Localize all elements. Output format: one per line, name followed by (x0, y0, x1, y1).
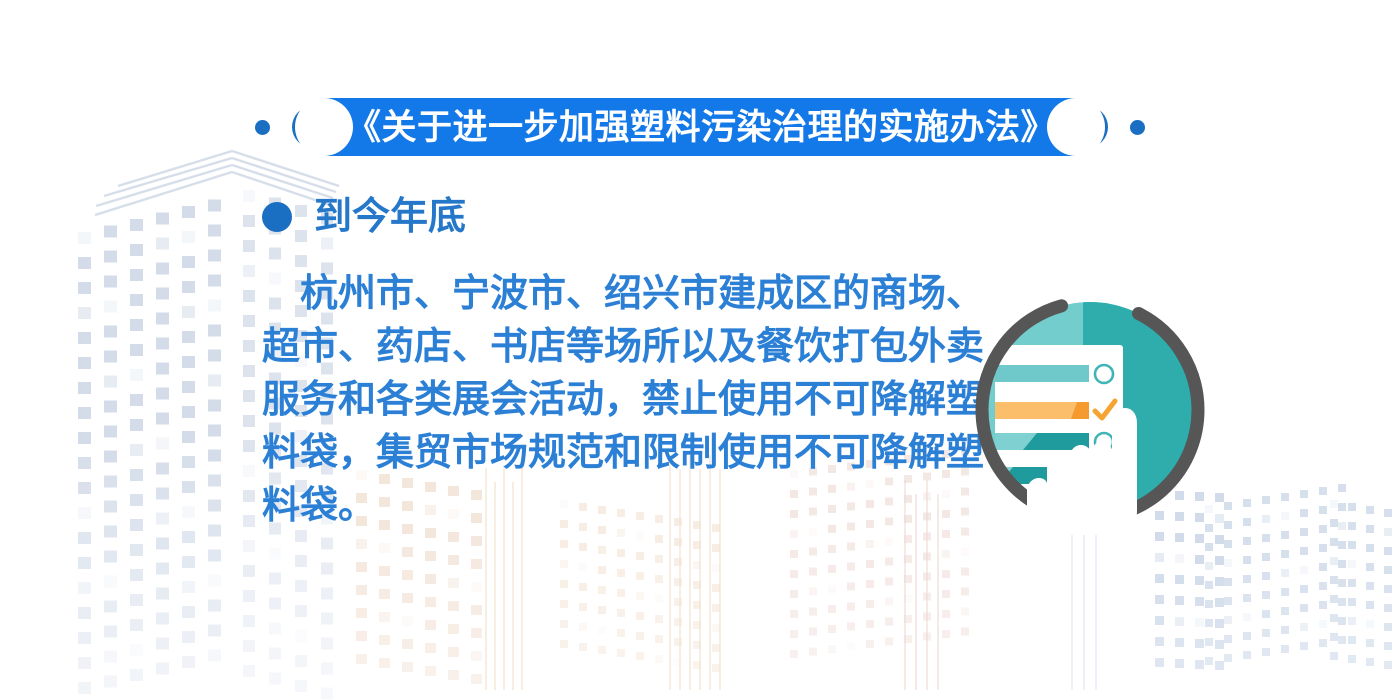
page-title: 《关于进一步加强塑料污染治理的实施办法》 (346, 110, 1056, 145)
title-decoration-dot-right-small (1130, 120, 1145, 135)
document-title-banner: 《关于进一步加强塑料污染治理的实施办法》 (324, 98, 1076, 156)
body-paragraph: 杭州市、宁波市、绍兴市建成区的商场、 超市、药店、书店等场所以及餐饮打包外卖 服… (262, 268, 974, 533)
body-line: 料袋。 (262, 480, 974, 533)
body-line: 超市、药店、书店等场所以及餐饮打包外卖 (262, 321, 974, 374)
subheading-label: 到今年底 (314, 198, 466, 236)
checklist-circle-illustration (965, 285, 1215, 535)
checklist-row-bar (987, 365, 1089, 382)
building-right (1205, 484, 1392, 669)
body-line: 杭州市、宁波市、绍兴市建成区的商场、 (262, 268, 974, 321)
body-line: 服务和各类展会活动，禁止使用不可降解塑 (262, 374, 974, 427)
subheading: 到今年底 (262, 198, 466, 236)
title-decoration-dot-left-small (255, 120, 270, 135)
bullet-dot-icon (262, 202, 292, 232)
title-banner-row: 《关于进一步加强塑料污染治理的实施办法》 (0, 96, 1400, 158)
body-line: 料袋，集贸市场规范和限制使用不可降解塑 (262, 427, 974, 480)
